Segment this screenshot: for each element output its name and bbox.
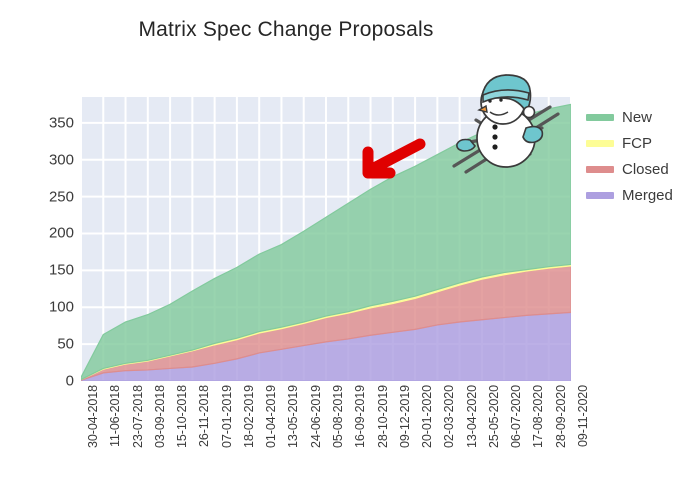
y-axis-tick-label: 350: [49, 114, 74, 131]
x-axis-tick-label: 25-05-2020: [487, 385, 501, 448]
x-axis-tick-label: 17-08-2020: [531, 385, 545, 448]
legend-item-label: FCP: [622, 135, 652, 152]
x-axis-tick-label: 03-09-2018: [153, 385, 167, 448]
legend-item-new[interactable]: New: [586, 104, 698, 130]
y-axis-tick-label: 0: [66, 373, 74, 390]
chart-legend: NewFCPClosedMerged: [586, 104, 698, 208]
x-axis-tick-label: 30-04-2018: [86, 385, 100, 448]
legend-swatch-icon: [586, 114, 614, 121]
x-axis-tick-label: 05-08-2019: [331, 385, 345, 448]
y-axis-tick-label: 50: [57, 336, 74, 353]
x-axis-tick-label: 26-11-2018: [197, 385, 211, 447]
x-axis-tick-label: 28-09-2020: [554, 385, 568, 448]
x-axis-tick-label: 23-07-2018: [131, 385, 145, 448]
y-axis-tick-label: 300: [49, 151, 74, 168]
x-axis-tick-label: 28-10-2019: [376, 385, 390, 448]
page-title: Matrix Spec Change Proposals: [0, 18, 572, 42]
x-axis-tick-label: 11-06-2018: [108, 385, 122, 447]
x-axis-tick-label: 02-03-2020: [442, 385, 456, 448]
legend-item-merged[interactable]: Merged: [586, 182, 698, 208]
y-axis-tick-label: 150: [49, 262, 74, 279]
y-axis-tick-label: 200: [49, 225, 74, 242]
x-axis-tick-label: 20-01-2020: [420, 385, 434, 448]
chart-container: Matrix Spec Change Proposals 05010015020…: [0, 0, 700, 500]
x-axis-tick-label: 18-02-2019: [242, 385, 256, 448]
x-axis-tick-label: 16-09-2019: [353, 385, 367, 448]
x-axis: 30-04-201811-06-201823-07-201803-09-2018…: [81, 385, 571, 497]
x-axis-tick-label: 13-05-2019: [286, 385, 300, 448]
x-axis-tick-label: 06-07-2020: [509, 385, 523, 448]
x-axis-tick-label: 24-06-2019: [309, 385, 323, 448]
legend-swatch-icon: [586, 166, 614, 173]
legend-swatch-icon: [586, 192, 614, 199]
stacked-area-plot: [81, 97, 571, 381]
x-axis-tick-label: 09-11-2020: [576, 385, 590, 447]
plot-area: [81, 97, 571, 381]
legend-item-label: Merged: [622, 187, 673, 204]
x-axis-tick-label: 07-01-2019: [220, 385, 234, 448]
y-axis: 050100150200250300350: [0, 97, 74, 381]
y-axis-tick-label: 100: [49, 299, 74, 316]
legend-swatch-icon: [586, 140, 614, 147]
x-axis-tick-label: 13-04-2020: [465, 385, 479, 448]
x-axis-tick-label: 15-10-2018: [175, 385, 189, 448]
legend-item-fcp[interactable]: FCP: [586, 130, 698, 156]
legend-item-label: Closed: [622, 161, 669, 178]
legend-item-label: New: [622, 109, 652, 126]
legend-item-closed[interactable]: Closed: [586, 156, 698, 182]
x-axis-tick-label: 09-12-2019: [398, 385, 412, 448]
x-axis-tick-label: 01-04-2019: [264, 385, 278, 448]
y-axis-tick-label: 250: [49, 188, 74, 205]
